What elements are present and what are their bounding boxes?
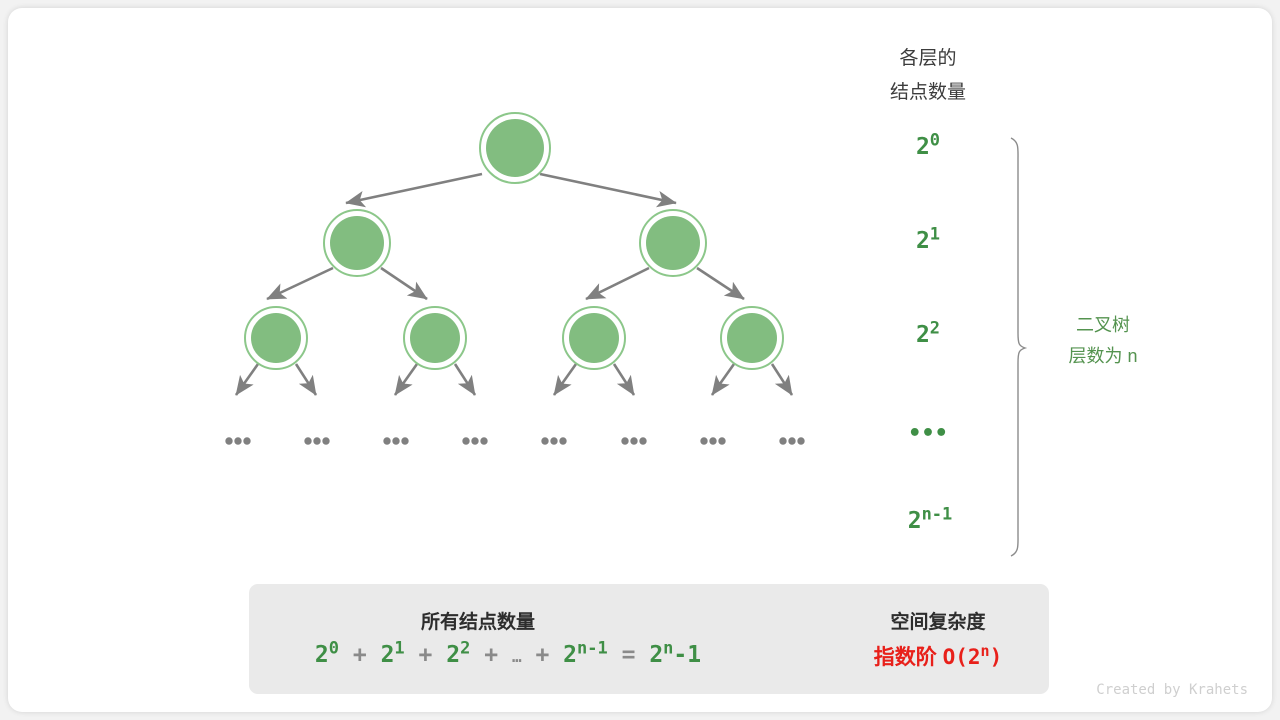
op-plus-1: + xyxy=(353,642,367,668)
level-count-1-exp: 1 xyxy=(930,224,940,244)
term-0: 20 xyxy=(315,642,339,668)
level-count-0-base: 2 xyxy=(916,134,930,160)
space-complexity-value: 指数阶 O(2n) xyxy=(838,641,1038,671)
leaf-ellipsis-row xyxy=(225,437,804,444)
formula-expression: 20 + 21 + 22 + … + 2n-1 = 2n-1 xyxy=(268,642,748,668)
op-ellipsis: … xyxy=(512,647,522,666)
tree-edges xyxy=(236,174,792,395)
level-count-2-base: 2 xyxy=(916,322,930,348)
level-count-last-base: 2 xyxy=(908,508,922,534)
watermark-credit: Created by Krahets xyxy=(1028,682,1248,698)
tree-depth-label-line2: 层数为 n xyxy=(1028,342,1178,368)
level-count-1-base: 2 xyxy=(916,228,930,254)
level-count-1: 21 xyxy=(878,228,978,254)
level-count-0-exp: 0 xyxy=(930,130,940,150)
level-count-2: 22 xyxy=(878,322,978,348)
formula-title-space-complexity: 空间复杂度 xyxy=(838,607,1038,634)
tree-depth-label-line1: 二叉树 xyxy=(1028,311,1178,337)
diagram-card: 各层的 结点数量 20 21 22 ••• 2n-1 二叉树 层数为 n 所有结… xyxy=(8,8,1272,712)
op-plus-2: + xyxy=(419,642,433,668)
level-count-2-exp: 2 xyxy=(930,318,940,338)
level-count-last: 2n-1 xyxy=(870,508,990,534)
op-plus-4: + xyxy=(535,642,549,668)
term-last: 2n-1 xyxy=(563,642,608,668)
term-2: 22 xyxy=(446,642,470,668)
level-count-last-exp: n-1 xyxy=(922,504,953,524)
column-header-line1: 各层的 xyxy=(853,43,1003,70)
column-header-line2: 结点数量 xyxy=(853,77,1003,104)
screenshot-canvas: 各层的 结点数量 20 21 22 ••• 2n-1 二叉树 层数为 n 所有结… xyxy=(0,0,1280,720)
formula-panel xyxy=(249,584,1049,694)
term-1: 21 xyxy=(381,642,405,668)
formula-title-total-nodes: 所有结点数量 xyxy=(268,607,688,634)
tree-nodes xyxy=(245,113,783,369)
level-count-0: 20 xyxy=(878,134,978,160)
complexity-bigo: O(2n) xyxy=(943,645,1003,669)
complexity-order-label: 指数阶 xyxy=(874,646,937,669)
term-result: 2n-1 xyxy=(649,642,701,668)
op-equals: = xyxy=(622,642,636,668)
levels-brace xyxy=(1011,138,1025,556)
op-plus-3: + xyxy=(484,642,498,668)
level-count-ellipsis: ••• xyxy=(878,421,978,446)
